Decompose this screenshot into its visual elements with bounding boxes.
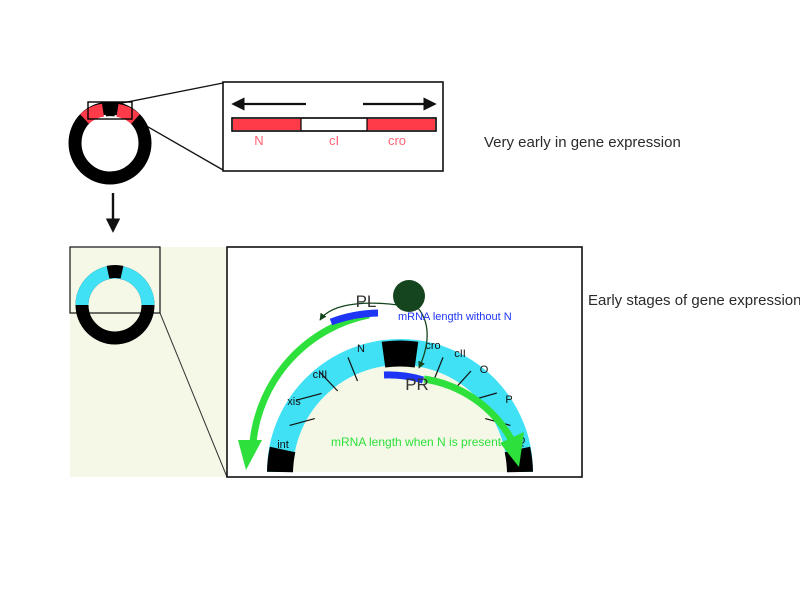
gene-label-O: O	[480, 364, 489, 376]
bar-label-ci: cI	[329, 133, 339, 148]
caption-early-stages: Early stages of gene expression	[588, 292, 800, 309]
gene-label-cro: cro	[425, 340, 440, 352]
gene-label-cII: cII	[454, 348, 466, 360]
mrna-with-n-label: mRNA length when N is present	[331, 435, 502, 449]
caption-very-early: Very early in gene expression	[484, 134, 681, 151]
bar-label-n: N	[254, 133, 263, 148]
figure-canvas: int xis cIII N cro cII O P Q PL PR mRNA …	[0, 0, 800, 600]
gene-label-xis: xis	[287, 396, 301, 408]
rna-polymerase	[393, 280, 425, 312]
top-leader-lines	[112, 83, 223, 170]
gene-label-P: P	[505, 394, 512, 406]
gene-label-int: int	[277, 439, 289, 451]
phage-genome-circle-top	[75, 102, 145, 178]
mrna-without-n-label: mRNA length without N	[398, 311, 512, 323]
promoter-label-pl: PL	[356, 292, 377, 311]
gene-bar	[232, 118, 436, 131]
gene-label-N: N	[357, 343, 365, 355]
gene-label-cIII: cIII	[313, 369, 328, 381]
promoter-label-pr: PR	[405, 375, 429, 394]
bar-label-cro: cro	[388, 133, 406, 148]
very-early-detail-box	[223, 82, 443, 171]
